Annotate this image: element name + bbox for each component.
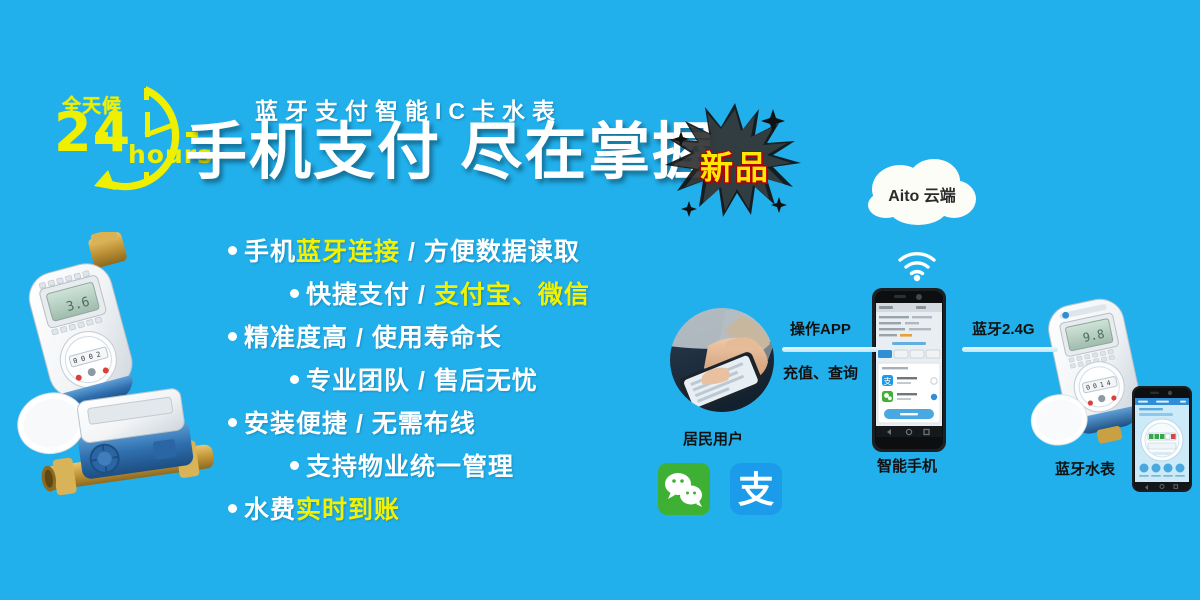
- feature-item: 支持物业统一管理: [290, 447, 514, 483]
- label-app-operate: 操作APP: [790, 318, 851, 339]
- feature-text-highlight: 实时到账: [296, 496, 400, 524]
- feature-text: 专业团队 / 售后无忧: [306, 367, 538, 395]
- feature-item: 安装便捷 / 无需布线: [228, 404, 476, 440]
- label-recharge-query: 充值、查询: [783, 362, 858, 383]
- label-smart-phone: 智能手机: [877, 455, 937, 476]
- promo-banner: 全天候 24 hours 蓝牙支付智能IC卡水表 手机支付 尽在掌握 新品 手机…: [0, 0, 1200, 600]
- alipay-icon: 支: [730, 463, 782, 515]
- connector-line-right: [962, 347, 1058, 352]
- feature-text: 手机: [244, 238, 296, 266]
- svg-text:支: 支: [738, 470, 774, 511]
- hand-holding-phone-photo: [668, 306, 776, 414]
- feature-bullet-dot: [290, 375, 299, 384]
- feature-text-highlight: 支付宝、微信: [434, 281, 590, 309]
- feature-text: 支持物业统一管理: [306, 453, 514, 481]
- feature-item: 水费实时到账: [228, 490, 400, 526]
- cloud-label: Aito 云端: [862, 182, 982, 206]
- badge-24-number: 24: [54, 106, 131, 160]
- feature-bullet-dot: [290, 461, 299, 470]
- wifi-signal-icon: [896, 248, 938, 282]
- feature-item: 专业团队 / 售后无忧: [290, 361, 538, 397]
- new-product-badge: 新品: [655, 97, 815, 222]
- feature-text: 安装便捷 / 无需布线: [244, 410, 476, 438]
- feature-text: 精准度高 / 使用寿命长: [244, 324, 502, 352]
- new-product-badge-label: 新品: [655, 141, 815, 189]
- feature-item: 快捷支付 / 支付宝、微信: [290, 275, 590, 311]
- feature-item: 手机蓝牙连接 / 方便数据读取: [228, 232, 580, 268]
- label-bluetooth: 蓝牙2.4G: [972, 318, 1035, 339]
- feature-text: 快捷支付 /: [306, 281, 434, 309]
- label-resident-user: 居民用户: [683, 428, 743, 449]
- feature-bullet-dot: [290, 289, 299, 298]
- banner-main-title: 手机支付 尽在掌握: [185, 122, 716, 184]
- feature-text: 水费: [244, 496, 296, 524]
- connector-line-left: [782, 347, 878, 352]
- svg-text:支: 支: [884, 376, 892, 386]
- wechat-pay-icon: [658, 463, 710, 515]
- meter-reading-app-phone: [1132, 386, 1192, 492]
- feature-text: / 方便数据读取: [400, 238, 580, 266]
- left-product-photos: 3.6 0002: [8, 232, 248, 522]
- feature-text-highlight: 蓝牙连接: [296, 238, 400, 266]
- smart-phone-mockup: 支: [872, 288, 946, 452]
- feature-item: 精准度高 / 使用寿命长: [228, 318, 502, 354]
- label-bluetooth-water-meter: 蓝牙水表: [1055, 458, 1115, 479]
